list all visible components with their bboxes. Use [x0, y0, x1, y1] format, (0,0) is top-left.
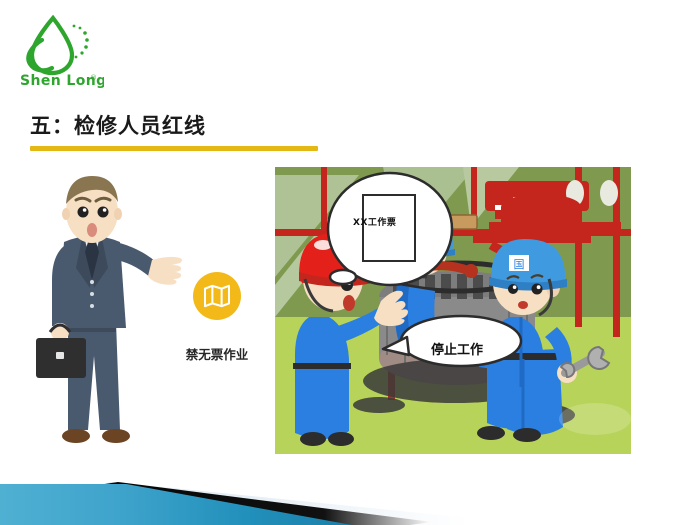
button-1 — [90, 280, 94, 284]
businessman-pointing-figure — [24, 172, 184, 450]
star-arc-icon — [73, 25, 89, 59]
shen-long-logo: Shen Long ® — [12, 12, 104, 90]
thought-bubble-work-permit — [328, 173, 452, 285]
helmet-badge-glyph: 国 — [514, 258, 525, 271]
button-2 — [90, 292, 94, 296]
title-underline-rule — [30, 146, 318, 151]
folded-map-icon — [203, 284, 231, 308]
page-title: 五：检修人员红线 — [30, 110, 206, 140]
shoe-right — [102, 429, 130, 443]
no-permit-badge: 禁无票作业 — [169, 272, 265, 363]
button-3 — [90, 304, 94, 308]
logo-registered-mark: ® — [90, 74, 97, 82]
shoe-left — [62, 429, 90, 443]
stop-work-speech-text: 停止工作 — [431, 339, 483, 358]
no-permit-caption: 禁无票作业 — [186, 344, 249, 363]
work-permit-document-label: XX工作票 — [353, 215, 396, 228]
watermark — [559, 403, 631, 435]
eye-left — [78, 207, 89, 218]
decorative-diagonal-banner — [0, 460, 700, 525]
left-panel: 禁无票作业 — [14, 172, 264, 454]
folded-map-icon-circle — [193, 272, 241, 320]
ear-left — [62, 208, 70, 220]
eye-right — [98, 207, 109, 218]
maintenance-safety-illustration: 国 — [275, 167, 631, 454]
ear-right — [114, 208, 122, 220]
water-drop-icon — [28, 18, 72, 73]
mouth — [87, 223, 97, 237]
slide-canvas: Shen Long ® 五：检修人员红线 — [0, 0, 700, 525]
